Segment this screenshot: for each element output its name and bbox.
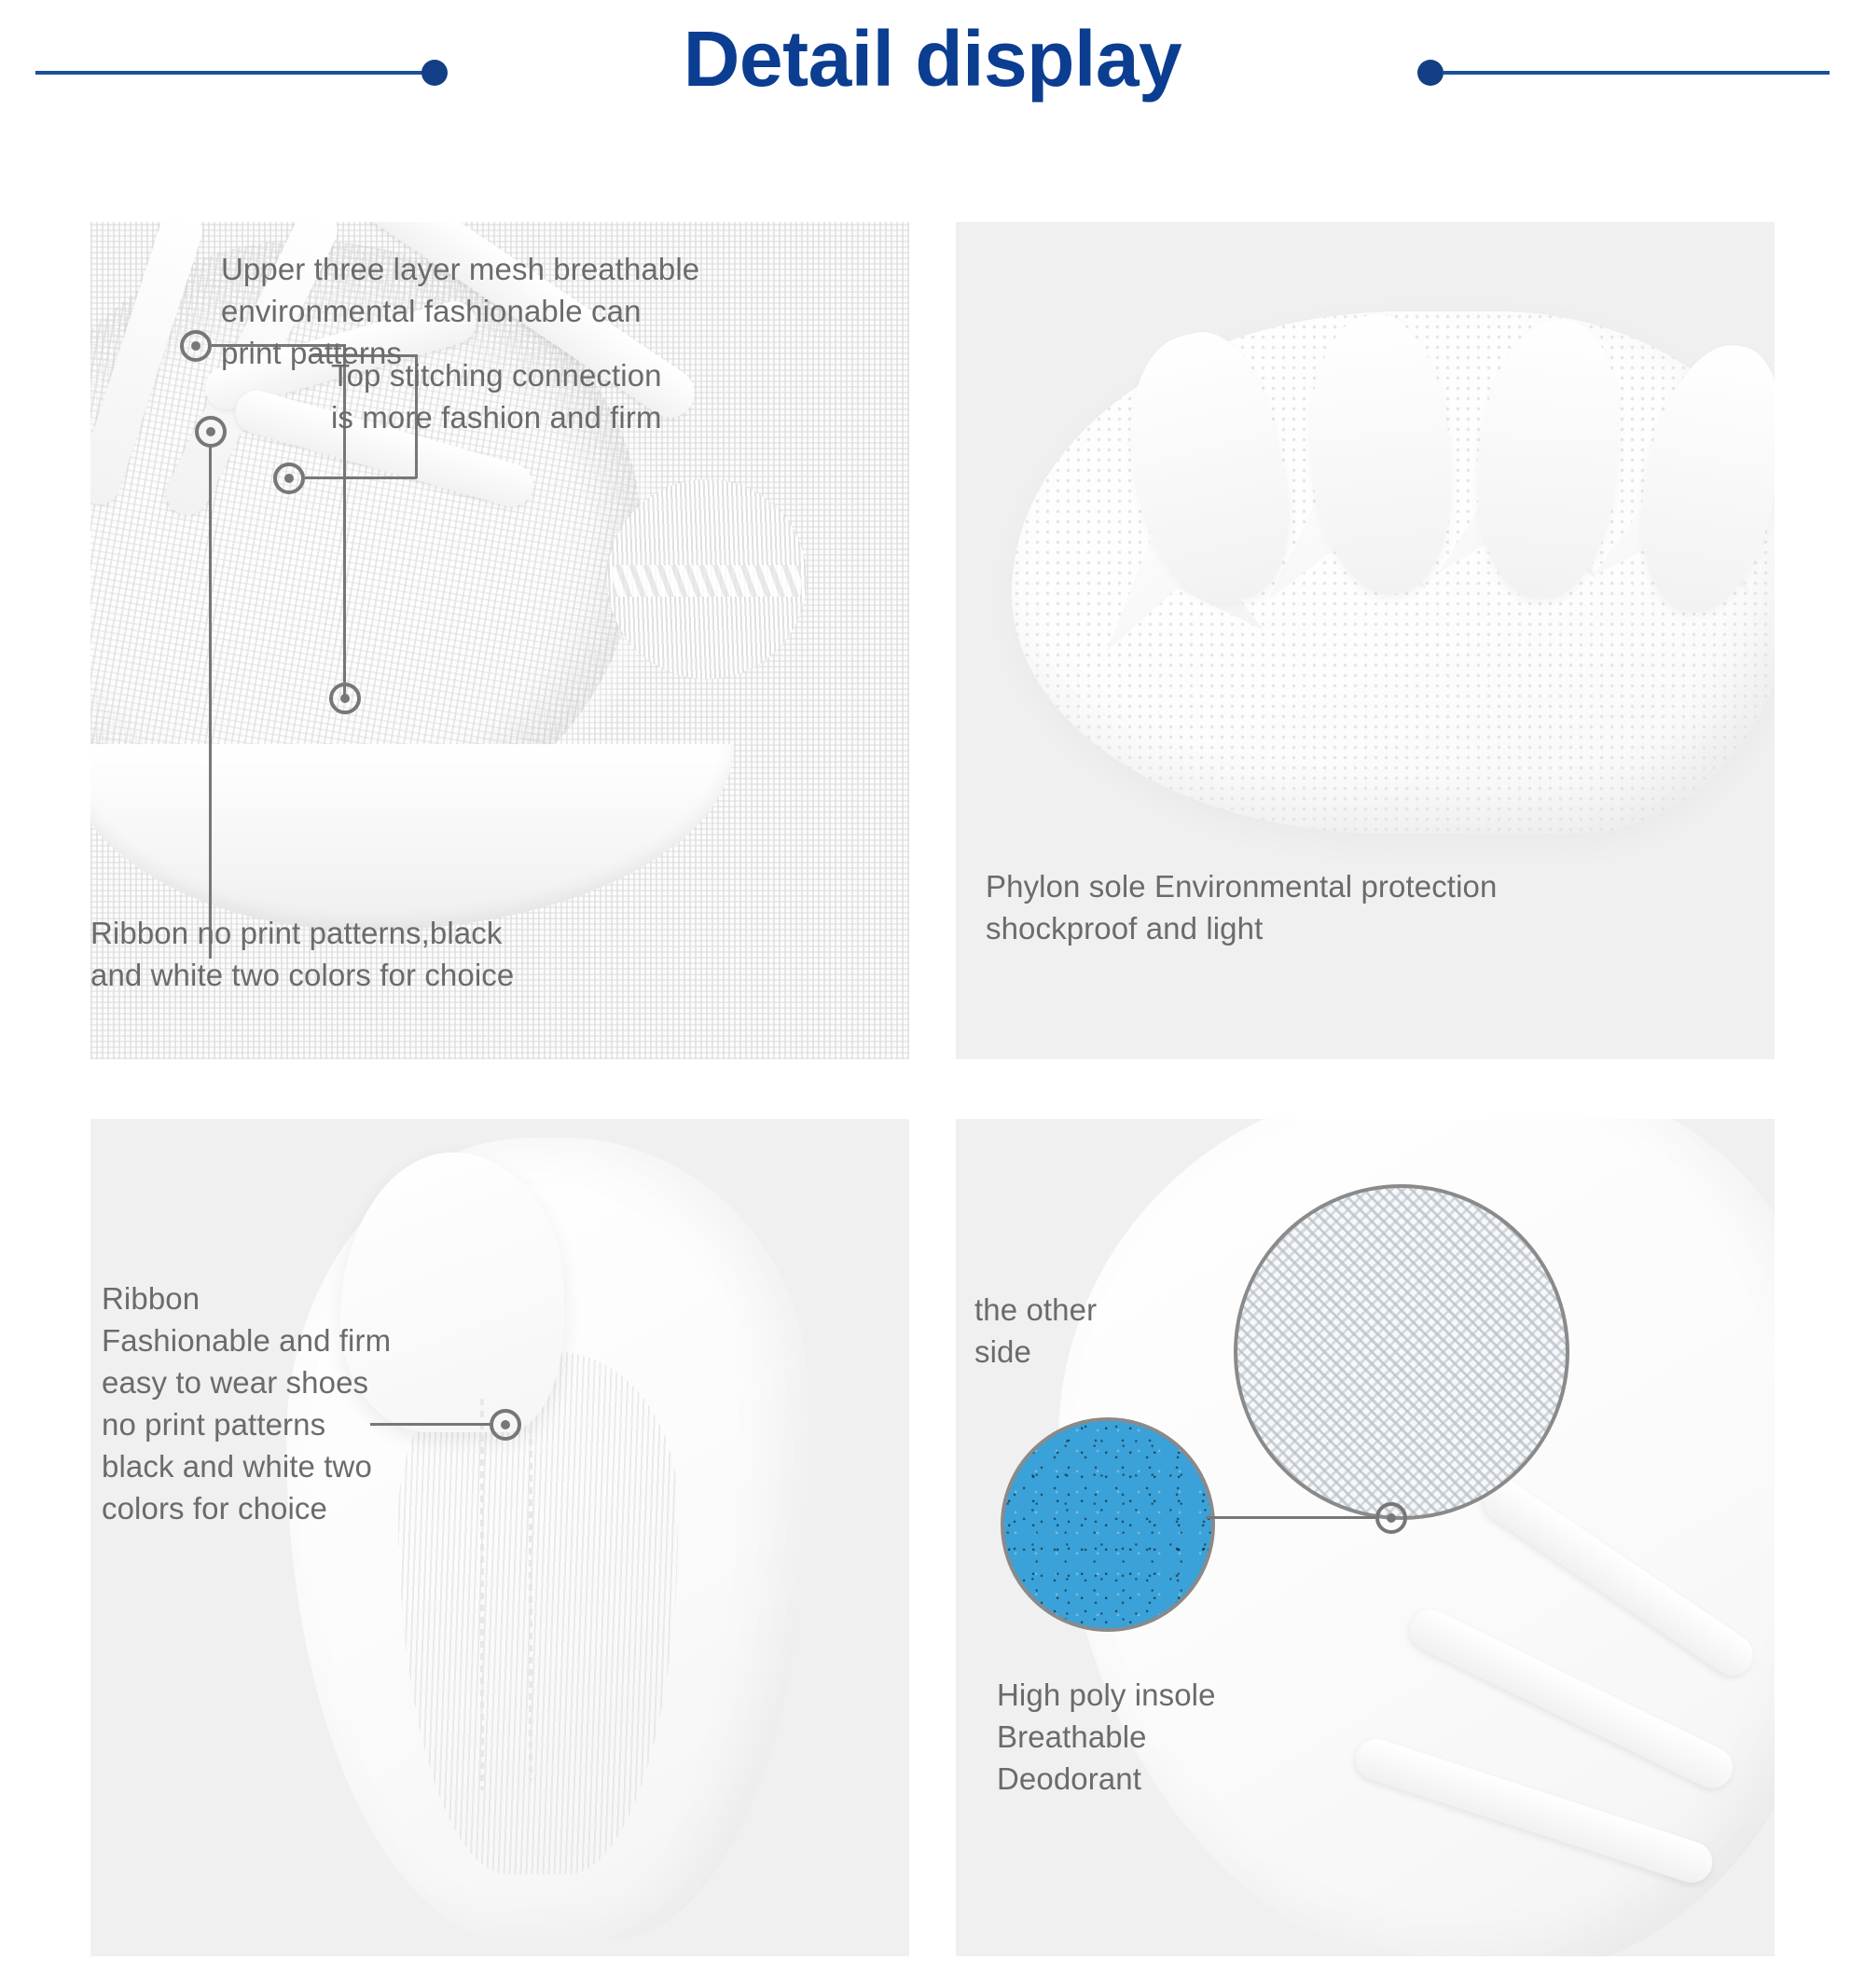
detail-display-page: Detail display (0, 0, 1865, 1988)
header-rule-right (1444, 71, 1830, 75)
page-header: Detail display (0, 0, 1865, 160)
insole-mesh-zoom-circle (1234, 1184, 1569, 1520)
panel-1-caption-bottom: Ribbon no print patterns,black and white… (90, 912, 669, 996)
panel-phylon-sole: Phylon sole Environmental protection sho… (956, 222, 1775, 1059)
callout-line-stitch-h (305, 476, 417, 479)
panel-2-caption: Phylon sole Environmental protection sho… (986, 865, 1750, 949)
callout-marker-heel (490, 1409, 521, 1441)
panel-insole: the other side High poly insole Breathab… (956, 1119, 1775, 1956)
panel-1-caption-stitch: Top stitching connection is more fashion… (331, 354, 723, 438)
panel-4-caption-bottom: High poly insole Breathable Deodorant (997, 1674, 1388, 1800)
callout-line-insole (1206, 1516, 1375, 1519)
panel-upper-mesh: Upper three layer mesh breathable enviro… (90, 222, 909, 1059)
shoe-heel-photo (90, 1119, 909, 1956)
callout-marker-ribbon (195, 416, 227, 448)
insole-blue-zoom-circle (1001, 1417, 1215, 1632)
stitch-zoom-detail (613, 565, 801, 597)
shoe-insole-photo (956, 1119, 1775, 1956)
detail-panel-grid: Upper three layer mesh breathable enviro… (90, 222, 1775, 1956)
callout-marker-stitch (273, 462, 305, 494)
panel-ribbon-heel: Ribbon Fashionable and firm easy to wear… (90, 1119, 909, 1956)
header-dot-right (1417, 60, 1444, 86)
panel-3-caption: Ribbon Fashionable and firm easy to wear… (102, 1277, 493, 1529)
callout-marker-insole (1375, 1502, 1407, 1534)
page-title: Detail display (0, 4, 1865, 114)
callout-marker-upper (180, 330, 212, 362)
panel-4-caption-other-side: the other side (974, 1289, 1180, 1373)
callout-marker-bottom (329, 683, 361, 714)
callout-line-ribbon-v (209, 446, 212, 959)
